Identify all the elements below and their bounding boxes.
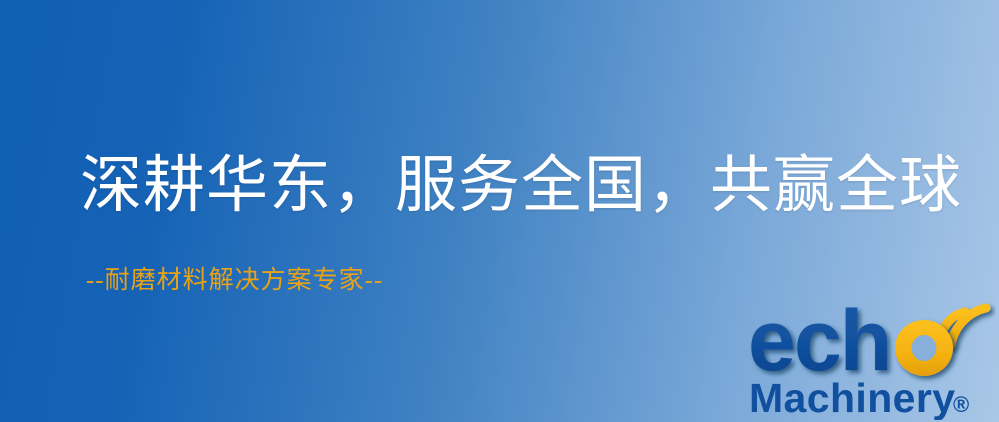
logo-tagline: Machinery: [749, 375, 955, 420]
page-subtitle: --耐磨材料解决方案专家--: [86, 268, 383, 293]
logo-graphic: ech Machinery ®: [748, 296, 996, 420]
logo-wordmark-o: [895, 320, 953, 376]
hero-banner: 深耕华东，服务全国，共赢全球 --耐磨材料解决方案专家--: [0, 0, 999, 422]
echo-machinery-logo[interactable]: ech Machinery ®: [748, 296, 996, 420]
page-title: 深耕华东，服务全国，共赢全球: [80, 155, 962, 217]
registered-trademark-icon: ®: [953, 392, 969, 417]
